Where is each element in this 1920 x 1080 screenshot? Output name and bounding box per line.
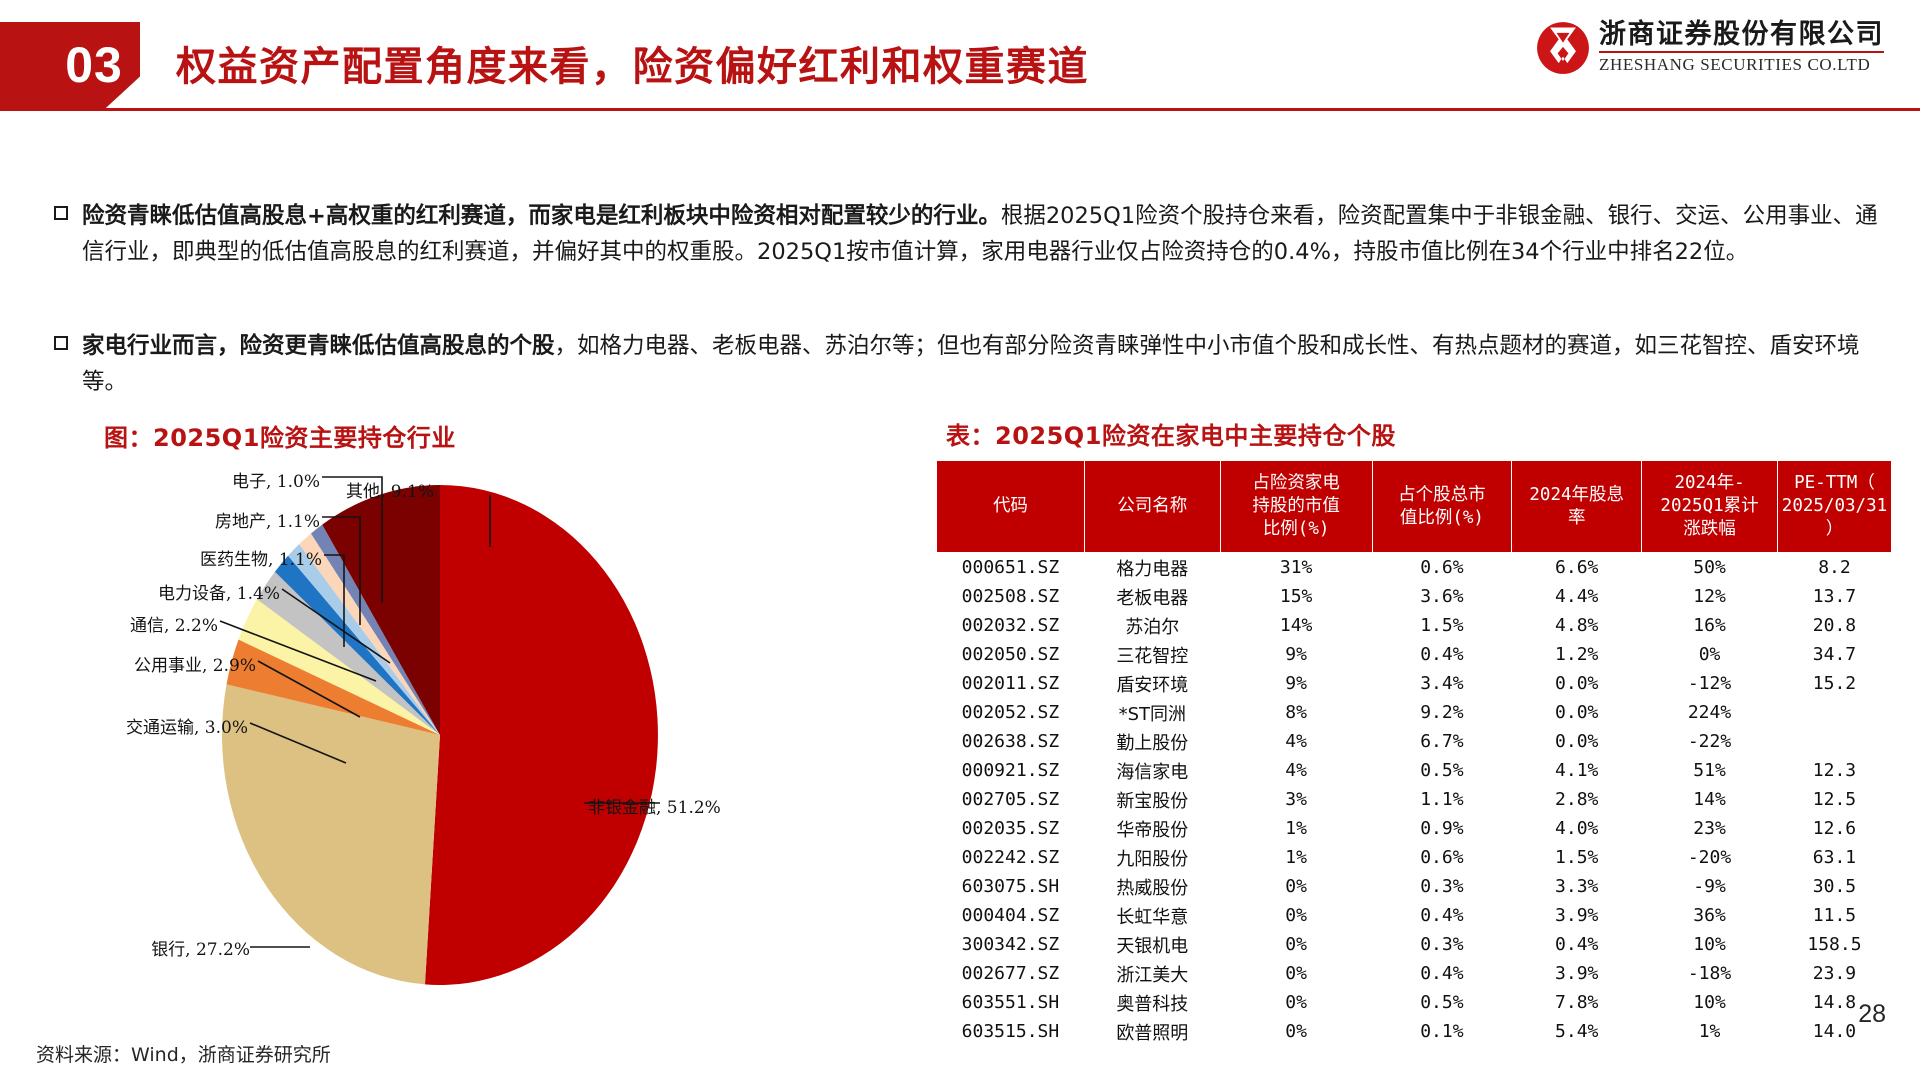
table-cell: 苏泊尔: [1084, 611, 1220, 640]
table-cell: 0%: [1220, 930, 1372, 959]
table-cell: 0%: [1220, 1017, 1372, 1046]
table-cell: -20%: [1642, 843, 1778, 872]
pie-label-qita: 其他, 9.1%: [346, 477, 434, 502]
table-header-row: 代码公司名称占险资家电持股的市值比例(%)占个股总市值比例(%)2024年股息率…: [937, 461, 1892, 553]
bullet-square-icon: [54, 206, 68, 220]
bullet-1-text: 险资青睐低估值高股息+高权重的红利赛道，而家电是红利板块中险资相对配置较少的行业…: [82, 198, 1884, 271]
table-cell: 海信家电: [1084, 756, 1220, 785]
table-cell: 12.6: [1777, 814, 1891, 843]
table-header: 代码公司名称占险资家电持股的市值比例(%)占个股总市值比例(%)2024年股息率…: [937, 461, 1892, 553]
table-row[interactable]: 002242.SZ九阳股份1%0.6%1.5%-20%63.1: [937, 843, 1892, 872]
table-cell: 天银机电: [1084, 930, 1220, 959]
table-cell: 华帝股份: [1084, 814, 1220, 843]
table-cell: 000921.SZ: [937, 756, 1085, 785]
slide-page: 03 权益资产配置角度来看，险资偏好红利和权重赛道 浙商证券股份有限公司 ZHE…: [0, 0, 1920, 1080]
pie-chart: 电子, 1.0% 其他, 9.1% 房地产, 1.1% 医药生物, 1.1% 电…: [60, 455, 920, 1025]
table-col-header-1: 公司名称: [1084, 461, 1220, 553]
table-col-header-3: 占个股总市值比例(%): [1372, 461, 1512, 553]
table-cell: 0%: [1220, 872, 1372, 901]
table-cell: 002677.SZ: [937, 959, 1085, 988]
table-cell: 0.5%: [1372, 756, 1512, 785]
zheshang-logo-icon: [1536, 21, 1590, 75]
table-row[interactable]: 002638.SZ勤上股份4%6.7%0.0%-22%: [937, 727, 1892, 756]
table-cell: 1.1%: [1372, 785, 1512, 814]
table-cell: 5.4%: [1512, 1017, 1642, 1046]
table-cell: 新宝股份: [1084, 785, 1220, 814]
table-cell: 0.6%: [1372, 843, 1512, 872]
table-cell: 002032.SZ: [937, 611, 1085, 640]
table-row[interactable]: 002050.SZ三花智控9%0.4%1.2%0%34.7: [937, 640, 1892, 669]
table-col-header-4: 2024年股息率: [1512, 461, 1642, 553]
bullet-paragraph-1: 险资青睐低估值高股息+高权重的红利赛道，而家电是红利板块中险资相对配置较少的行业…: [54, 198, 1884, 271]
table-cell: 34.7: [1777, 640, 1891, 669]
table-cell: 3.3%: [1512, 872, 1642, 901]
table-row[interactable]: 002035.SZ华帝股份1%0.9%4.0%23%12.6: [937, 814, 1892, 843]
table-cell: 30.5: [1777, 872, 1891, 901]
pie-slice-1: [222, 684, 440, 984]
chart-caption: 图：2025Q1险资主要持仓行业: [104, 418, 456, 453]
source-note: 资料来源：Wind，浙商证券研究所: [36, 1040, 331, 1067]
table-cell: 50%: [1642, 553, 1778, 583]
table-cell: 14%: [1642, 785, 1778, 814]
table-col-header-0: 代码: [937, 461, 1085, 553]
table-cell: 002052.SZ: [937, 698, 1085, 727]
table-cell: 3.9%: [1512, 959, 1642, 988]
table-cell: 1%: [1220, 843, 1372, 872]
table-row[interactable]: 300342.SZ天银机电0%0.3%0.4%10%158.5: [937, 930, 1892, 959]
table-cell: 224%: [1642, 698, 1778, 727]
pie-label-yiyao: 医药生物, 1.1%: [150, 545, 322, 570]
table-col-header-6: PE-TTM（2025/03/31）: [1777, 461, 1891, 553]
table-cell: 20.8: [1777, 611, 1891, 640]
table-row[interactable]: 603075.SH热威股份0%0.3%3.3%-9%30.5: [937, 872, 1892, 901]
table-cell: 0.6%: [1372, 553, 1512, 583]
table-cell: 10%: [1642, 988, 1778, 1017]
table-cell: 12.5: [1777, 785, 1891, 814]
table-cell: 奥普科技: [1084, 988, 1220, 1017]
table-cell: 002508.SZ: [937, 582, 1085, 611]
table-cell: 002011.SZ: [937, 669, 1085, 698]
table-cell: 欧普照明: [1084, 1017, 1220, 1046]
table-cell: 31%: [1220, 553, 1372, 583]
table-cell: 36%: [1642, 901, 1778, 930]
table-cell: 23.9: [1777, 959, 1891, 988]
table-cell: 9%: [1220, 669, 1372, 698]
table-cell: 盾安环境: [1084, 669, 1220, 698]
bullet-2-lead: 家电行业而言，险资更青睐低估值高股息的个股: [82, 333, 555, 359]
table-cell: 长虹华意: [1084, 901, 1220, 930]
logo-company-en: ZHESHANG SECURITIES CO.LTD: [1599, 55, 1884, 75]
table-cell: 16%: [1642, 611, 1778, 640]
table-cell: 0.0%: [1512, 669, 1642, 698]
table-col-header-5: 2024年-2025Q1累计涨跌幅: [1642, 461, 1778, 553]
bullet-paragraph-2: 家电行业而言，险资更青睐低估值高股息的个股，如格力电器、老板电器、苏泊尔等；但也…: [54, 328, 1884, 401]
table-cell: 0.3%: [1372, 930, 1512, 959]
table-cell: 603551.SH: [937, 988, 1085, 1017]
table-cell: 0%: [1220, 959, 1372, 988]
table-cell: -18%: [1642, 959, 1778, 988]
table-cell: 0%: [1220, 988, 1372, 1017]
table-cell: 603515.SH: [937, 1017, 1085, 1046]
table-cell: 1.2%: [1512, 640, 1642, 669]
pie-label-gongyong: 公用事业, 2.9%: [70, 651, 256, 676]
table-cell: 0.4%: [1512, 930, 1642, 959]
table-cell: 002705.SZ: [937, 785, 1085, 814]
header-divider: [0, 108, 1920, 111]
table-cell: 老板电器: [1084, 582, 1220, 611]
pie-label-feiyin: 非银金融, 51.2%: [588, 793, 721, 818]
table-cell: 9.2%: [1372, 698, 1512, 727]
table-row[interactable]: 002508.SZ老板电器15%3.6%4.4%12%13.7: [937, 582, 1892, 611]
bullet-2-text: 家电行业而言，险资更青睐低估值高股息的个股，如格力电器、老板电器、苏泊尔等；但也…: [82, 328, 1884, 401]
table-cell: 6.6%: [1512, 553, 1642, 583]
table-row[interactable]: 002011.SZ盾安环境9%3.4%0.0%-12%15.2: [937, 669, 1892, 698]
table-cell: -22%: [1642, 727, 1778, 756]
logo-rule: [1599, 51, 1884, 53]
table-cell: 4.1%: [1512, 756, 1642, 785]
table-cell: 15%: [1220, 582, 1372, 611]
table-cell: 3%: [1220, 785, 1372, 814]
table-cell: 0.3%: [1372, 872, 1512, 901]
table-cell: 0%: [1642, 640, 1778, 669]
table-cell: 3.9%: [1512, 901, 1642, 930]
table-cell: 0.9%: [1372, 814, 1512, 843]
table-cell: 158.5: [1777, 930, 1891, 959]
table-row[interactable]: 603551.SH奥普科技0%0.5%7.8%10%14.8: [937, 988, 1892, 1017]
pie-label-tongxin: 通信, 2.2%: [70, 611, 218, 636]
page-title: 权益资产配置角度来看，险资偏好红利和权重赛道: [176, 34, 1089, 92]
table-cell: 1.5%: [1512, 843, 1642, 872]
table-cell: 6.7%: [1372, 727, 1512, 756]
pie-label-jiaotong: 交通运输, 3.0%: [60, 713, 248, 738]
table-cell: 12%: [1642, 582, 1778, 611]
table-cell: 2.8%: [1512, 785, 1642, 814]
table-cell: 13.7: [1777, 582, 1891, 611]
pie-label-yinhang: 银行, 27.2%: [90, 935, 250, 960]
table-cell: 000404.SZ: [937, 901, 1085, 930]
table-cell: 热威股份: [1084, 872, 1220, 901]
table-cell: 23%: [1642, 814, 1778, 843]
logo-company-cn: 浙商证券股份有限公司: [1599, 20, 1884, 50]
table-cell: 002035.SZ: [937, 814, 1085, 843]
table-cell: 12.3: [1777, 756, 1891, 785]
table-cell: 002638.SZ: [937, 727, 1085, 756]
table-cell: 格力电器: [1084, 553, 1220, 583]
table-cell: 九阳股份: [1084, 843, 1220, 872]
page-number: 28: [1858, 1000, 1886, 1029]
pie-slice-0: [425, 485, 658, 985]
table-cell: 8.2: [1777, 553, 1891, 583]
table-cell: 1.5%: [1372, 611, 1512, 640]
table-row[interactable]: 002032.SZ苏泊尔14%1.5%4.8%16%20.8: [937, 611, 1892, 640]
bullet-square-icon: [54, 336, 68, 350]
table-cell: 002050.SZ: [937, 640, 1085, 669]
table-col-header-2: 占险资家电持股的市值比例(%): [1220, 461, 1372, 553]
holdings-table: 代码公司名称占险资家电持股的市值比例(%)占个股总市值比例(%)2024年股息率…: [936, 460, 1892, 1046]
table-cell: 4.8%: [1512, 611, 1642, 640]
table-cell: 63.1: [1777, 843, 1891, 872]
company-logo: 浙商证券股份有限公司 ZHESHANG SECURITIES CO.LTD: [1536, 20, 1884, 75]
table-cell: 15.2: [1777, 669, 1891, 698]
table-cell: [1777, 727, 1891, 756]
table-cell: 0%: [1220, 901, 1372, 930]
table-cell: 603075.SH: [937, 872, 1085, 901]
table-cell: 0.0%: [1512, 698, 1642, 727]
table-cell: 4%: [1220, 756, 1372, 785]
table-cell: 0.4%: [1372, 901, 1512, 930]
table-cell: [1777, 698, 1891, 727]
table-cell: 4.0%: [1512, 814, 1642, 843]
table-cell: 002242.SZ: [937, 843, 1085, 872]
table-cell: -9%: [1642, 872, 1778, 901]
logo-text-block: 浙商证券股份有限公司 ZHESHANG SECURITIES CO.LTD: [1599, 20, 1884, 75]
table-caption: 表：2025Q1险资在家电中主要持仓个股: [946, 416, 1396, 451]
bullet-1-lead: 险资青睐低估值高股息+高权重的红利赛道，而家电是红利板块中险资相对配置较少的行业…: [82, 203, 1001, 229]
table-row[interactable]: 603515.SH欧普照明0%0.1%5.4%1%14.0: [937, 1017, 1892, 1046]
table-cell: 勤上股份: [1084, 727, 1220, 756]
table-cell: 3.4%: [1372, 669, 1512, 698]
table-cell: 1%: [1220, 814, 1372, 843]
table-row[interactable]: 000921.SZ海信家电4%0.5%4.1%51%12.3: [937, 756, 1892, 785]
table-cell: 51%: [1642, 756, 1778, 785]
table-cell: 3.6%: [1372, 582, 1512, 611]
table-cell: 0.0%: [1512, 727, 1642, 756]
table-body: 000651.SZ格力电器31%0.6%6.6%50%8.2002508.SZ老…: [937, 553, 1892, 1047]
table-cell: 9%: [1220, 640, 1372, 669]
holdings-table-container: 代码公司名称占险资家电持股的市值比例(%)占个股总市值比例(%)2024年股息率…: [936, 460, 1892, 1046]
table-cell: 浙江美大: [1084, 959, 1220, 988]
table-cell: 0.1%: [1372, 1017, 1512, 1046]
table-cell: 0.4%: [1372, 959, 1512, 988]
table-cell: 11.5: [1777, 901, 1891, 930]
table-cell: 4%: [1220, 727, 1372, 756]
table-cell: *ST同洲: [1084, 698, 1220, 727]
table-cell: 0.5%: [1372, 988, 1512, 1017]
table-cell: 8%: [1220, 698, 1372, 727]
table-cell: -12%: [1642, 669, 1778, 698]
table-cell: 10%: [1642, 930, 1778, 959]
table-cell: 000651.SZ: [937, 553, 1085, 583]
pie-label-dianli: 电力设备, 1.4%: [100, 579, 280, 604]
section-number-label: 03: [46, 30, 142, 100]
table-row[interactable]: 002052.SZ*ST同洲8%9.2%0.0%224%: [937, 698, 1892, 727]
table-row[interactable]: 002677.SZ浙江美大0%0.4%3.9%-18%23.9: [937, 959, 1892, 988]
table-cell: 0.4%: [1372, 640, 1512, 669]
table-cell: 300342.SZ: [937, 930, 1085, 959]
table-cell: 7.8%: [1512, 988, 1642, 1017]
table-cell: 14%: [1220, 611, 1372, 640]
pie-label-fangdichan: 房地产, 1.1%: [170, 507, 320, 532]
pie-label-dianzi: 电子, 1.0%: [200, 467, 320, 492]
table-row[interactable]: 002705.SZ新宝股份3%1.1%2.8%14%12.5: [937, 785, 1892, 814]
table-cell: 4.4%: [1512, 582, 1642, 611]
table-row[interactable]: 000404.SZ长虹华意0%0.4%3.9%36%11.5: [937, 901, 1892, 930]
table-cell: 1%: [1642, 1017, 1778, 1046]
table-row[interactable]: 000651.SZ格力电器31%0.6%6.6%50%8.2: [937, 553, 1892, 583]
table-cell: 三花智控: [1084, 640, 1220, 669]
